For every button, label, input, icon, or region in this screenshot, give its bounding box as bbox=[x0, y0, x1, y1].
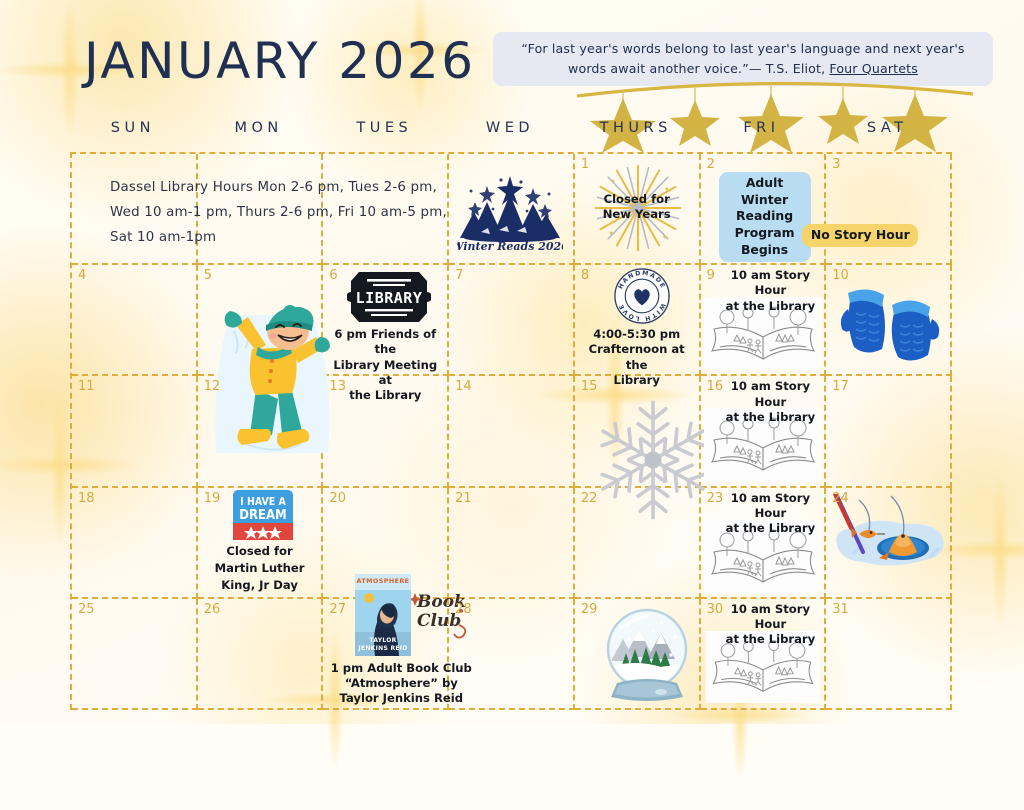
day-number: 14 bbox=[455, 379, 472, 394]
ice-fishing-icon bbox=[829, 494, 951, 590]
day-cell-4[interactable]: 4 bbox=[72, 265, 198, 376]
day-number: 26 bbox=[204, 602, 221, 617]
day-cell-26[interactable]: 26 bbox=[198, 599, 324, 710]
day-cell-30[interactable]: 30 10 am Story Hour at the Library bbox=[701, 599, 827, 710]
day-cell-14[interactable]: 14 bbox=[449, 376, 575, 487]
day-cell-25[interactable]: 25 bbox=[72, 599, 198, 710]
weekday-tues: TUES bbox=[321, 120, 447, 150]
day-number: 2 bbox=[707, 157, 715, 172]
day-cell-17[interactable]: 17 bbox=[826, 376, 952, 487]
day-number: 20 bbox=[329, 491, 346, 506]
day-cell-empty[interactable]: Dassel Library Hours Mon 2-6 pm, Tues 2-… bbox=[72, 154, 198, 265]
day-number: 8 bbox=[581, 268, 589, 283]
snow-angel-icon bbox=[200, 303, 340, 471]
weekday-header-row: SUN MON TUES WED THURS FRI SAT bbox=[70, 120, 950, 150]
day-cell-11[interactable]: 11 bbox=[72, 376, 198, 487]
mittens-icon bbox=[838, 279, 942, 365]
weekday-fri: FRI bbox=[699, 120, 825, 150]
day-cell-9[interactable]: 9 10 am Story Hour at the Library bbox=[701, 265, 827, 376]
day-cell-8[interactable]: 8 HANDMADE WITH LOVE 4:00-5:30 pm Crafte… bbox=[575, 265, 701, 376]
day-cell-3[interactable]: 3 No Story Hour bbox=[826, 154, 952, 265]
day-number: 5 bbox=[204, 268, 212, 283]
handmade-with-love-badge-icon: HANDMADE WITH LOVE bbox=[614, 268, 670, 324]
day-cell-10[interactable]: 10 bbox=[826, 265, 952, 376]
day-number: 17 bbox=[832, 379, 849, 394]
day-number: 4 bbox=[78, 268, 86, 283]
page-title: JANUARY 2026 bbox=[84, 32, 476, 90]
day-number: 28 bbox=[455, 602, 472, 617]
weekday-thurs: THURS bbox=[573, 120, 699, 150]
day-cell-16[interactable]: 16 10 am Story Hour at the Library bbox=[701, 376, 827, 487]
day-cell-29[interactable]: 29 bbox=[575, 599, 701, 710]
book-title: ATMOSPHERE bbox=[357, 577, 410, 585]
book-author-line2: JENKINS REID bbox=[358, 645, 408, 652]
day-number: 19 bbox=[204, 491, 221, 506]
event-text-book-club: 1 pm Adult Book Club “Atmosphere” by Tay… bbox=[315, 661, 487, 707]
day-number: 15 bbox=[581, 379, 598, 394]
day-number: 25 bbox=[78, 602, 95, 617]
day-number: 27 bbox=[329, 602, 346, 617]
quote-source: Four Quartets bbox=[829, 61, 918, 76]
day-number: 11 bbox=[78, 379, 95, 394]
mlk-line1: I HAVE A bbox=[240, 496, 286, 508]
book-author-line1: TAYLOR bbox=[370, 637, 397, 644]
day-number: 24 bbox=[832, 491, 849, 506]
calendar-grid: Dassel Library Hours Mon 2-6 pm, Tues 2-… bbox=[70, 152, 952, 710]
event-text-new-years: Closed for New Years bbox=[577, 192, 697, 223]
event-text-mlk: Closed for Martin Luther King, Jr Day bbox=[200, 543, 320, 595]
weekday-sun: SUN bbox=[70, 120, 196, 150]
winter-reads-label: Winter Reads 2026 bbox=[457, 240, 563, 253]
weekday-wed: WED bbox=[447, 120, 573, 150]
library-logo-label: LIBRARY bbox=[356, 289, 423, 307]
day-cell-6[interactable]: 6 LIBRARY 6 pm Friends of the Library Me… bbox=[323, 265, 449, 376]
snowflake-icon bbox=[589, 396, 717, 524]
day-cell-1[interactable]: 1 bbox=[575, 154, 701, 265]
event-text-story-hour: 10 am Story Hour at the Library bbox=[717, 602, 825, 648]
day-cell-18[interactable]: 18 bbox=[72, 488, 198, 599]
day-cell-24[interactable]: 24 bbox=[826, 488, 952, 599]
day-number: 1 bbox=[581, 157, 589, 172]
badge-no-story-hour[interactable]: No Story Hour bbox=[802, 224, 918, 247]
day-cell-19[interactable]: 19 I HAVE A DREAM Closed for Martin Luth… bbox=[198, 488, 324, 599]
day-number: 12 bbox=[204, 379, 221, 394]
badge-adult-winter-reading[interactable]: Adult Winter Reading Program Begins bbox=[719, 172, 811, 262]
day-number: 6 bbox=[329, 268, 337, 283]
day-number: 3 bbox=[832, 157, 840, 172]
day-number: 13 bbox=[329, 379, 346, 394]
day-cell-21[interactable]: 21 bbox=[449, 488, 575, 599]
day-cell-31[interactable]: 31 bbox=[826, 599, 952, 710]
library-hours-note: Dassel Library Hours Mon 2-6 pm, Tues 2-… bbox=[110, 176, 470, 250]
winter-reads-logo-icon: Winter Reads 2026 bbox=[457, 164, 563, 256]
weekday-mon: MON bbox=[196, 120, 322, 150]
day-number: 10 bbox=[832, 268, 849, 283]
day-cell-2[interactable]: 2 Adult Winter Reading Program Begins bbox=[701, 154, 827, 265]
day-cell-23[interactable]: 23 10 am Story Hour at the Library bbox=[701, 488, 827, 599]
day-cell-27[interactable]: 27 ATMOSPHERE TAYLOR JENKINS REID Book C… bbox=[323, 599, 449, 710]
day-number: 9 bbox=[707, 268, 715, 283]
day-number: 29 bbox=[581, 602, 598, 617]
i-have-a-dream-badge-icon: I HAVE A DREAM bbox=[233, 490, 293, 540]
event-text-story-hour: 10 am Story Hour at the Library bbox=[717, 491, 825, 537]
day-number: 18 bbox=[78, 491, 95, 506]
day-cell-15[interactable]: 15 bbox=[575, 376, 701, 487]
day-number: 7 bbox=[455, 268, 463, 283]
day-cell-7[interactable]: 7 bbox=[449, 265, 575, 376]
day-number: 22 bbox=[581, 491, 598, 506]
mlk-line2: DREAM bbox=[239, 508, 286, 523]
event-text-story-hour: 10 am Story Hour at the Library bbox=[717, 379, 825, 425]
weekday-sat: SAT bbox=[824, 120, 950, 150]
event-text-story-hour: 10 am Story Hour at the Library bbox=[717, 268, 825, 314]
day-cell-5[interactable]: 5 bbox=[198, 265, 324, 376]
day-number: 31 bbox=[832, 602, 849, 617]
library-logo-icon: LIBRARY bbox=[347, 268, 431, 326]
book-cover-atmosphere-icon: ATMOSPHERE TAYLOR JENKINS REID bbox=[355, 574, 411, 656]
day-number: 21 bbox=[455, 491, 472, 506]
snow-globe-icon bbox=[595, 605, 699, 709]
